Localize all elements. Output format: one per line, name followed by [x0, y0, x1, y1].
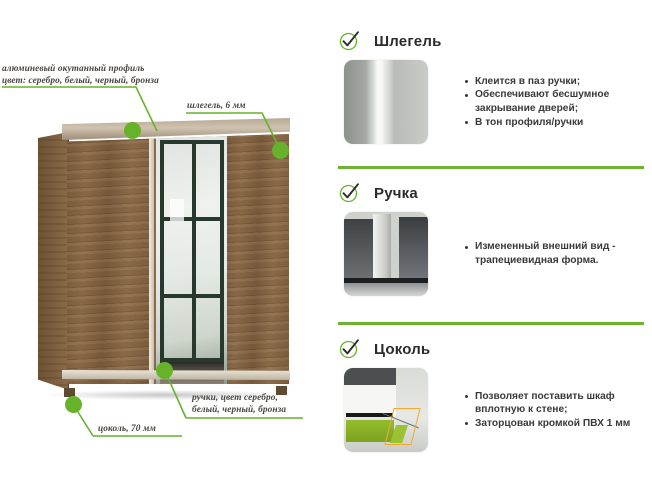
bullet-item: Клеится в паз ручки; [464, 75, 609, 89]
feature-section-plinth: Цоколь Позволяет поставить шкаф вплотную… [330, 336, 652, 452]
annotation-shlegel: шлегель, 6 мм [187, 101, 246, 113]
bullet-item: Позволяет поставить шкаф вплотную к стен… [464, 390, 630, 417]
cabinet-top [344, 368, 396, 386]
annotation-plinth-line1: цоколь, 70 мм [98, 424, 156, 436]
track-base [344, 283, 428, 296]
annotation-handles-line1: ручки, цвет серебро, [192, 393, 286, 405]
check-circle-icon [338, 337, 362, 361]
section-bullets-plinth: Позволяет поставить шкаф вплотную к стен… [464, 390, 630, 431]
section-title-plinth: Цоколь [374, 341, 430, 358]
product-illustration-pane: алюминевый окутанный профиль цвет: сереб… [0, 0, 330, 500]
seam-highlight [374, 60, 384, 144]
section-header-shlegel: Шлегель [338, 28, 652, 54]
section-body-handle: Измененный внешний вид - трапециевидная … [344, 212, 652, 296]
check-circle-icon [338, 181, 362, 205]
annotation-shlegel-line1: шлегель, 6 мм [187, 101, 246, 113]
features-pane: Шлегель Клеится в паз ручки; Обеспечиваю… [330, 0, 652, 500]
feature-section-handle: Ручка Измененный внешний вид - трапециев… [330, 180, 652, 296]
section-divider-2 [338, 322, 644, 325]
marker-dot-profile [124, 122, 141, 139]
plinth-green-photo [344, 368, 428, 452]
section-title-handle: Ручка [374, 185, 418, 202]
bullet-item: Обеспечивают бесшумное закрывание дверей… [464, 88, 609, 115]
infographic-page: алюминевый окутанный профиль цвет: сереб… [0, 0, 652, 500]
panel-left [344, 219, 373, 281]
annotation-plinth: цоколь, 70 мм [98, 424, 156, 436]
marker-dot-shlegel [272, 142, 289, 159]
shlegel-seam-photo [344, 60, 428, 144]
panel-right [399, 217, 428, 279]
handle-profile-photo [344, 212, 428, 296]
annotation-profile-line2: цвет: серебро, белый, черный, бронза [2, 76, 159, 88]
section-bullets-shlegel: Клеится в паз ручки; Обеспечивают бесшум… [464, 75, 609, 129]
cabinet-body [344, 385, 396, 417]
annotation-profile-line1: алюминевый окутанный профиль [2, 64, 159, 76]
marker-dot-handles [156, 362, 173, 379]
section-header-plinth: Цоколь [338, 336, 652, 362]
section-header-handle: Ручка [338, 180, 652, 206]
bullet-item: В тон профиля/ручки [464, 116, 609, 130]
check-circle-icon [338, 29, 362, 53]
annotation-handles-line2: белый, черный, бронза [192, 405, 286, 417]
bullet-item: Измененный внешний вид - трапециевидная … [464, 240, 616, 267]
section-body-plinth: Позволяет поставить шкаф вплотную к стен… [344, 368, 652, 452]
feature-section-shlegel: Шлегель Клеится в паз ручки; Обеспечиваю… [330, 28, 652, 144]
annotation-handles: ручки, цвет серебро, белый, черный, брон… [192, 393, 286, 416]
section-divider-1 [338, 166, 644, 169]
bullet-item: Заторцован кромкой ПВХ 1 мм [464, 417, 630, 431]
section-bullets-handle: Измененный внешний вид - трапециевидная … [464, 240, 616, 267]
annotation-profile: алюминевый окутанный профиль цвет: сереб… [2, 64, 159, 87]
section-title-shlegel: Шлегель [374, 33, 442, 50]
section-body-shlegel: Клеится в паз ручки; Обеспечивают бесшум… [344, 60, 652, 144]
marker-dot-plinth [65, 396, 82, 413]
